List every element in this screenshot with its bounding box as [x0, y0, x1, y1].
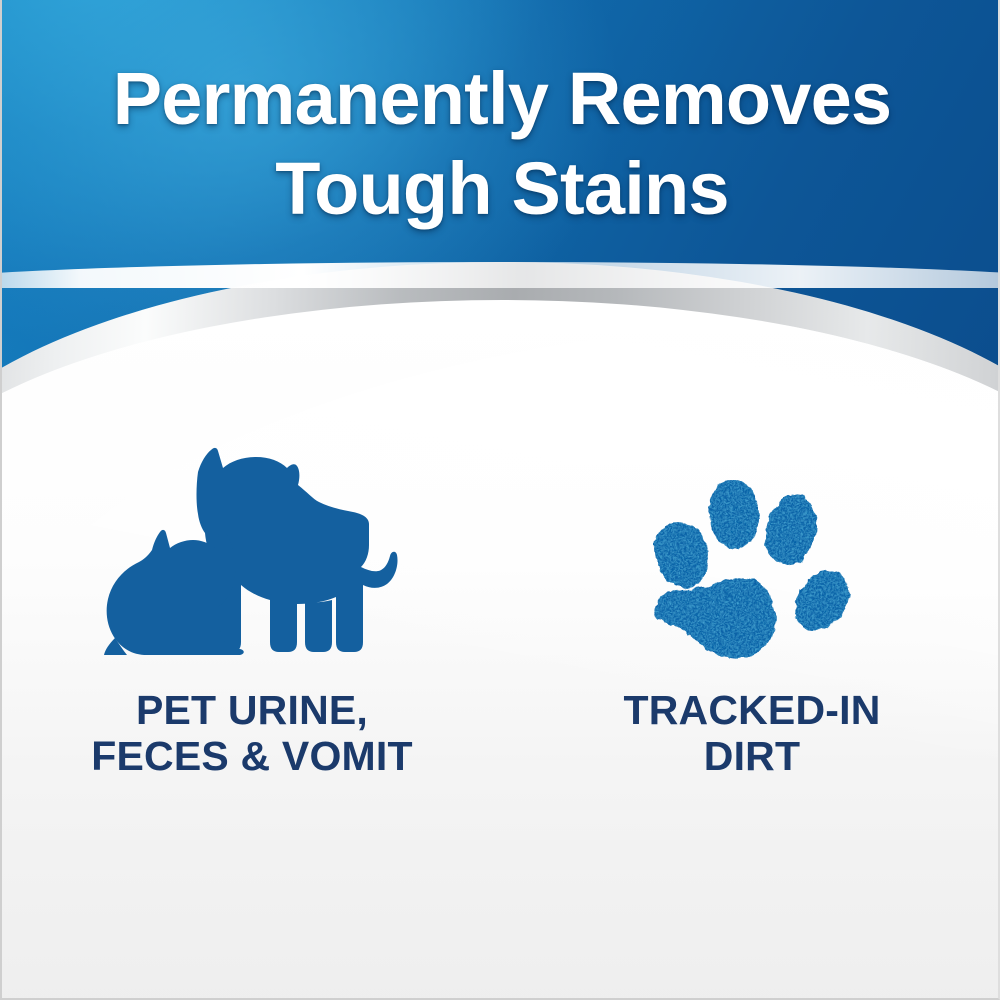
feature-icon-wrap: [97, 430, 407, 670]
dog-and-cat-silhouette-icon: [97, 442, 407, 670]
feature-label-tracked-in-dirt: TRACKED-IN DIRT: [623, 688, 880, 780]
feature-label-line-2: FECES & VOMIT: [91, 734, 413, 780]
feature-icon-wrap: [650, 430, 855, 670]
page-title: Permanently Removes Tough Stains: [2, 56, 1000, 232]
promo-card: Permanently Removes Tough Stains: [0, 0, 1000, 1000]
headline-line-1: Permanently Removes: [2, 56, 1000, 142]
feature-tracked-in-dirt: TRACKED-IN DIRT: [502, 430, 1000, 830]
feature-label-pet-messes: PET URINE, FECES & VOMIT: [91, 688, 413, 780]
feature-pet-messes: PET URINE, FECES & VOMIT: [2, 430, 502, 830]
paw-print-icon: [650, 470, 855, 670]
headline-line-2: Tough Stains: [2, 146, 1000, 232]
feature-row: PET URINE, FECES & VOMIT: [2, 430, 1000, 830]
feature-label-line-1: TRACKED-IN: [623, 688, 880, 734]
feature-label-line-2: DIRT: [623, 734, 880, 780]
feature-label-line-1: PET URINE,: [91, 688, 413, 734]
